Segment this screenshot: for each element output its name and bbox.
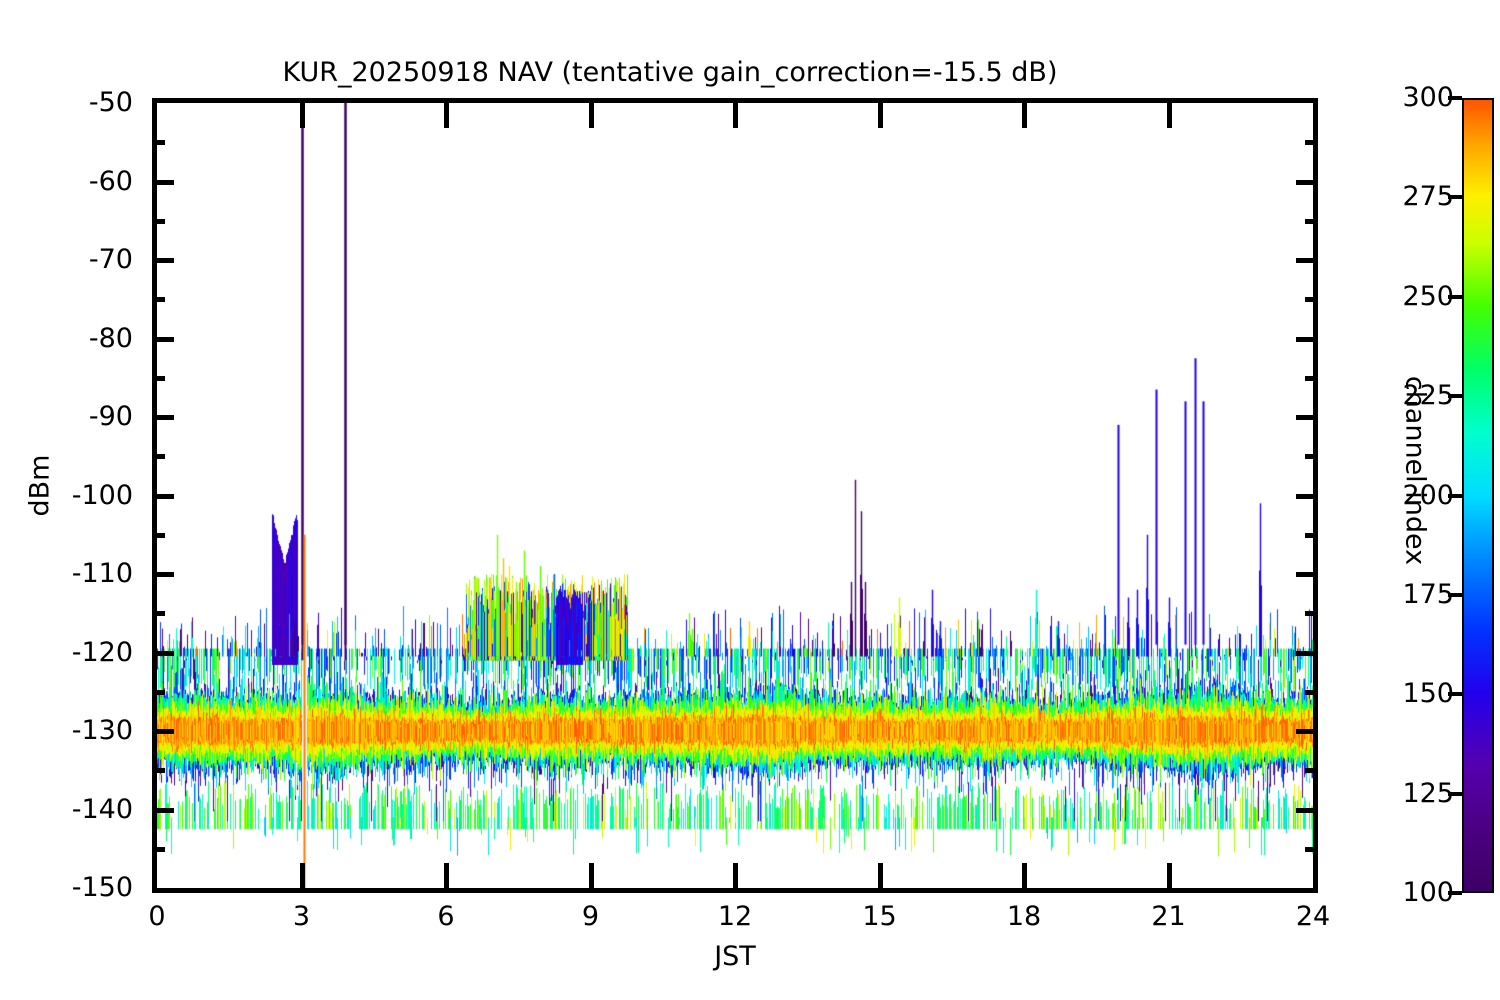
y-tick-minor	[152, 611, 165, 616]
spectrum-canvas	[157, 103, 1313, 888]
y-tick-minor	[152, 297, 165, 302]
x-tick	[1022, 863, 1027, 893]
y-tick-minor-right	[1305, 847, 1318, 852]
y-tick	[152, 808, 174, 813]
x-tick-label: 24	[1273, 903, 1353, 930]
y-tick-right	[1296, 651, 1318, 656]
y-tick-right	[1296, 415, 1318, 420]
y-tick	[152, 494, 174, 499]
y-tick-label: -60	[18, 168, 133, 195]
colorbar-label: channel index	[1400, 341, 1431, 601]
y-tick-minor-right	[1305, 140, 1318, 145]
y-tick-minor	[152, 847, 165, 852]
y-tick-right	[1296, 258, 1318, 263]
y-tick-minor-right	[1305, 454, 1318, 459]
x-tick-label: 21	[1129, 903, 1209, 930]
colorbar-tick	[1448, 195, 1462, 199]
colorbar-tick-label: 125	[1402, 780, 1454, 807]
y-tick	[152, 415, 174, 420]
colorbar-tick-label: 150	[1402, 680, 1454, 707]
y-tick	[152, 651, 174, 656]
y-tick-right	[1296, 808, 1318, 813]
y-tick	[152, 337, 174, 342]
x-tick	[733, 863, 738, 893]
x-tick	[444, 863, 449, 893]
chart-title: KUR_20250918 NAV (tentative gain_correct…	[0, 57, 1340, 88]
y-tick	[152, 729, 174, 734]
x-tick-label: 3	[262, 903, 342, 930]
x-tick	[878, 863, 883, 893]
chart-root: KUR_20250918 NAV (tentative gain_correct…	[0, 0, 1500, 1000]
colorbar-tick	[1448, 792, 1462, 796]
x-tick-label: 18	[984, 903, 1064, 930]
plot-data-area	[157, 103, 1313, 888]
y-tick-minor	[152, 768, 165, 773]
x-tick-top	[300, 98, 305, 128]
y-tick-minor-right	[1305, 611, 1318, 616]
y-axis-label: dBm	[25, 406, 56, 566]
x-tick	[300, 863, 305, 893]
x-tick-top	[589, 98, 594, 128]
x-tick-top	[733, 98, 738, 128]
colorbar-tick	[1448, 891, 1462, 895]
y-tick-minor	[152, 454, 165, 459]
y-tick	[152, 258, 174, 263]
x-tick-label: 0	[117, 903, 197, 930]
colorbar-tick	[1448, 295, 1462, 299]
colorbar-tick-label: 275	[1402, 183, 1454, 210]
y-tick-minor-right	[1305, 219, 1318, 224]
x-tick-label: 6	[406, 903, 486, 930]
x-tick-top	[1167, 98, 1172, 128]
colorbar-tick-label: 250	[1402, 283, 1454, 310]
y-tick-label: -140	[18, 796, 133, 823]
colorbar-tick	[1448, 494, 1462, 498]
x-tick-top	[878, 98, 883, 128]
y-tick-label: -80	[18, 325, 133, 352]
y-tick-label: -130	[18, 717, 133, 744]
y-tick-minor-right	[1305, 297, 1318, 302]
y-tick-label: -70	[18, 246, 133, 273]
y-tick-label: -120	[18, 639, 133, 666]
x-tick-label: 15	[840, 903, 920, 930]
y-tick-minor-right	[1305, 533, 1318, 538]
colorbar-tick	[1448, 96, 1462, 100]
colorbar-tick-label: 100	[1402, 879, 1454, 906]
y-tick-minor	[152, 533, 165, 538]
colorbar-tick	[1448, 593, 1462, 597]
y-tick-right	[1296, 337, 1318, 342]
y-tick-label: -150	[18, 874, 133, 901]
x-tick-label: 9	[551, 903, 631, 930]
y-tick-minor-right	[1305, 376, 1318, 381]
colorbar-tick	[1448, 692, 1462, 696]
y-tick	[152, 572, 174, 577]
y-tick	[152, 180, 174, 185]
y-tick-right	[1296, 572, 1318, 577]
colorbar-gradient	[1464, 100, 1492, 891]
y-tick-minor	[152, 376, 165, 381]
y-tick-minor-right	[1305, 690, 1318, 695]
y-tick-minor	[152, 690, 165, 695]
x-tick	[589, 863, 594, 893]
y-tick-label: -50	[18, 89, 133, 116]
colorbar-tick-label: 300	[1402, 84, 1454, 111]
y-tick-right	[1296, 494, 1318, 499]
y-tick-minor	[152, 140, 165, 145]
x-tick-label: 12	[695, 903, 775, 930]
x-tick-top	[1022, 98, 1027, 128]
x-axis-label: JST	[0, 941, 1470, 972]
x-tick	[1167, 863, 1172, 893]
colorbar-tick	[1448, 394, 1462, 398]
x-tick-top	[444, 98, 449, 128]
y-tick-minor-right	[1305, 768, 1318, 773]
y-tick-right	[1296, 180, 1318, 185]
y-tick-right	[1296, 729, 1318, 734]
colorbar	[1462, 98, 1494, 893]
y-tick-minor	[152, 219, 165, 224]
